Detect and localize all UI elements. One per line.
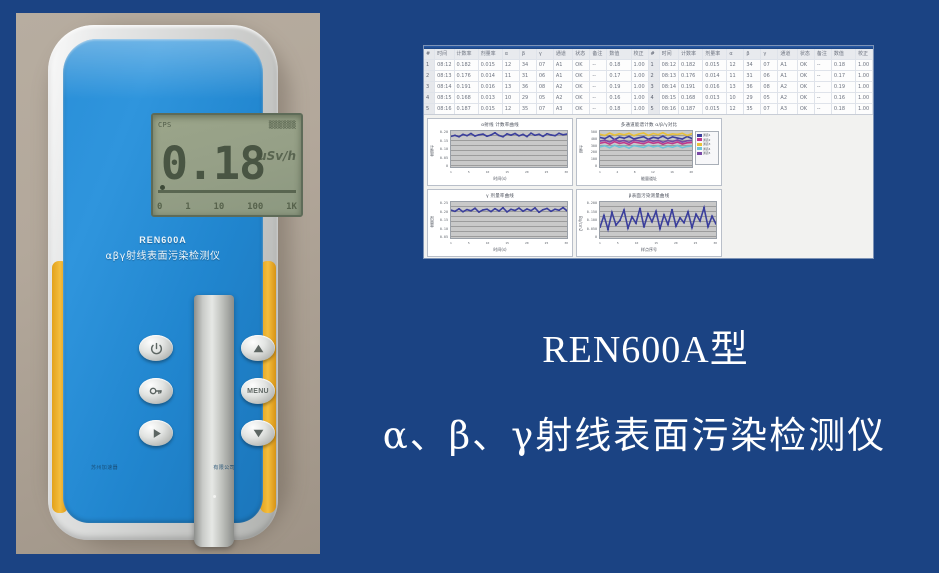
data-table[interactable]: #时间计数率剂量率αβγ通道状态备注数值校正#时间计数率剂量率αβγ通道状态备注… [424, 49, 873, 115]
chart-marker [470, 133, 472, 134]
chart-marker [691, 138, 692, 139]
table-cell: 0.015 [479, 104, 503, 114]
table-cell: 34 [744, 60, 761, 70]
table-cell: 08:14 [435, 82, 454, 92]
chart-marker [628, 142, 630, 143]
chart-alpha-count[interactable]: α射线 计数率曲线计数率0.200.150.100.05015101520253… [427, 118, 573, 186]
x-tick: 15 [505, 170, 509, 174]
table-cell: OK [798, 60, 815, 70]
x-tick: 12 [651, 170, 655, 174]
lcd-unit: uSv/h [258, 149, 296, 163]
table-cell: OK [573, 93, 590, 103]
chart-marker [691, 140, 692, 141]
lcd-tick-10: 10 [213, 202, 224, 212]
chart-marker [671, 209, 673, 210]
down-button[interactable] [241, 420, 275, 446]
y-tick: 300 [584, 144, 597, 148]
chart-marker [672, 143, 674, 144]
table-cell: 36 [744, 82, 761, 92]
x-tick: 4 [616, 170, 618, 174]
chart-line-剂量率 [451, 208, 567, 213]
chart-marker [558, 210, 560, 211]
chart-marker [530, 133, 532, 134]
lcd-scale-ticks: 0 1 10 100 1K [157, 202, 297, 212]
table-cell: OK [798, 104, 815, 114]
play-button[interactable] [139, 420, 173, 446]
table-row[interactable]: 408:150.1680.013102905A2OK--0.161.00408:… [424, 93, 873, 104]
y-tick: 0.25 [435, 201, 448, 205]
legend-label: 通道5 [703, 151, 710, 155]
chart-legend: 通道1通道2通道3通道4通道5 [695, 131, 719, 165]
chart-marker [643, 132, 645, 133]
table-cell: 3 [424, 82, 435, 92]
lcd-tick-1: 1 [185, 202, 190, 212]
table-cell: 13 [727, 82, 744, 92]
table-cell: -- [590, 60, 607, 70]
chart-marker [682, 147, 684, 148]
chart-marker [558, 133, 560, 134]
table-cell: 0.16 [607, 93, 631, 103]
table-header-cell: α [503, 49, 520, 59]
chart-marker [667, 134, 669, 135]
chart-marker [486, 209, 488, 210]
chart-marker [614, 141, 616, 142]
chart-x-axis-label: 时间(s) [428, 247, 572, 253]
device-model-label: REN600A [63, 235, 263, 245]
y-tick: 0.15 [435, 218, 448, 222]
table-cell: -- [590, 82, 607, 92]
chart-marker [703, 207, 705, 208]
table-cell: 13 [503, 82, 520, 92]
power-button[interactable] [139, 335, 173, 361]
table-cell: 0.176 [455, 71, 479, 81]
chart-marker [604, 145, 606, 146]
chart-marker [638, 146, 640, 147]
chart-marker [562, 207, 564, 208]
table-cell: 08 [761, 82, 778, 92]
table-cell: 0.16 [832, 93, 856, 103]
table-header-cell: 状态 [573, 49, 590, 59]
table-cell: 12 [727, 60, 744, 70]
legend-label: 通道4 [703, 147, 710, 151]
table-cell: 35 [744, 104, 761, 114]
chart-marker [615, 224, 617, 225]
chart-marker [546, 208, 548, 209]
table-cell: 31 [520, 71, 537, 81]
legend-item: 通道3 [697, 142, 717, 146]
chart-marker [614, 145, 616, 146]
table-cell: 07 [537, 104, 554, 114]
chevron-down-icon [252, 427, 265, 440]
x-tick: 5 [617, 241, 619, 245]
table-cell: 12 [503, 60, 520, 70]
legend-item: 通道5 [697, 151, 717, 155]
table-cell: A1 [778, 71, 797, 81]
x-tick: 1 [450, 241, 452, 245]
table-cell: 0.016 [703, 82, 727, 92]
y-tick: 0.050 [584, 227, 597, 231]
chart-marker [600, 140, 601, 141]
chart-marker [691, 142, 692, 143]
chart-series-group [451, 202, 567, 238]
chart-marker [451, 209, 452, 210]
chart-marker [648, 145, 650, 146]
chart-x-ticks: 151015202530 [450, 241, 568, 245]
table-header-cell: 计数率 [455, 49, 479, 59]
table-cell: 0.014 [703, 71, 727, 81]
table-cell: OK [573, 71, 590, 81]
table-cell: 06 [537, 71, 554, 81]
chart-marker [679, 217, 681, 218]
table-header-cell: 计数率 [679, 49, 703, 59]
legend-label: 通道3 [703, 142, 710, 146]
y-tick: 0.20 [435, 130, 448, 134]
table-cell: A2 [778, 82, 797, 92]
table-row[interactable]: 308:140.1910.016133608A2OK--0.191.00308:… [424, 82, 873, 93]
chart-marker [672, 141, 674, 142]
chart-marker [454, 211, 456, 212]
table-cell: 0.18 [832, 104, 856, 114]
chart-plot-area: 计数率0.200.150.100.050151015202530时间(s) [428, 129, 572, 185]
chart-series-group [600, 131, 692, 167]
chart-marker [638, 137, 640, 138]
x-tick: 16 [670, 170, 674, 174]
table-header-cell: 剂量率 [479, 49, 503, 59]
y-tick: 0.05 [435, 156, 448, 160]
y-tick: 0.200 [584, 201, 597, 205]
chart-marker [514, 210, 516, 211]
chart-marker [648, 139, 650, 140]
table-cell: 08:14 [660, 82, 679, 92]
chart-marker [490, 134, 492, 135]
chart-marker [623, 138, 625, 139]
chart-marker [707, 226, 709, 227]
chart-marker [609, 143, 611, 144]
chart-marker [657, 145, 659, 146]
table-cell: 0.015 [479, 60, 503, 70]
table-cell: 0.191 [455, 82, 479, 92]
chart-marker [627, 227, 629, 228]
chart-marker [619, 141, 621, 142]
table-cell: 08:15 [435, 93, 454, 103]
panel-highlight [63, 39, 263, 99]
legend-swatch [697, 143, 702, 146]
table-cell: 0.015 [703, 60, 727, 70]
chart-marker [652, 137, 654, 138]
table-cell: OK [573, 82, 590, 92]
chart-marker [672, 147, 674, 148]
key-icon [149, 385, 163, 397]
product-photo: CPS ▒▒▒▒▒▒ 0.18 uSv/h 0 1 10 100 1K RE [16, 13, 320, 554]
table-cell: 1.00 [856, 60, 873, 70]
table-header-cell: γ [537, 49, 554, 59]
chart-marker [451, 136, 452, 137]
chart-marker [498, 135, 500, 136]
table-header-cell: 时间 [660, 49, 679, 59]
y-tick: 0.150 [584, 210, 597, 214]
lcd-status-right: ▒▒▒▒▒▒ [269, 121, 296, 129]
chart-marker [514, 133, 516, 134]
chart-marker [623, 209, 625, 210]
x-tick: 8 [634, 170, 636, 174]
chart-marker [604, 140, 606, 141]
chart-marker [657, 134, 659, 135]
chart-beta-surface[interactable]: β表面污染测量曲线Bq/cm20.2000.1500.1000.05001510… [576, 189, 722, 257]
chart-marker [619, 220, 621, 221]
chart-marker [502, 207, 504, 208]
table-header-cell: 状态 [798, 49, 815, 59]
table-cell: A3 [778, 104, 797, 114]
slide-root: CPS ▒▒▒▒▒▒ 0.18 uSv/h 0 1 10 100 1K RE [0, 0, 939, 573]
table-cell: 0.187 [679, 104, 703, 114]
table-cell: 08:15 [660, 93, 679, 103]
chart-marker [638, 142, 640, 143]
chart-marker [643, 147, 645, 148]
chart-marker [682, 138, 684, 139]
chart-marker [623, 142, 625, 143]
chart-marker [643, 141, 645, 142]
chart-marker [538, 134, 540, 135]
legend-item: 通道4 [697, 147, 717, 151]
y-tick: 0.10 [435, 227, 448, 231]
table-cell: 5 [649, 104, 660, 114]
chart-marker [518, 207, 520, 208]
table-header-cell: γ [761, 49, 778, 59]
table-cell: 1.00 [856, 82, 873, 92]
x-tick: 1 [599, 170, 601, 174]
chart-marker [522, 211, 524, 212]
table-cell: 0.18 [607, 104, 631, 114]
chart-marker [600, 143, 601, 144]
key-button[interactable] [139, 378, 173, 404]
table-row[interactable]: 108:120.1820.015123407A1OK--0.181.00108:… [424, 60, 873, 71]
table-cell: 0.182 [455, 60, 479, 70]
table-cell: 4 [424, 93, 435, 103]
table-cell: 08:16 [660, 104, 679, 114]
chart-marker [462, 211, 464, 212]
chart-marker [506, 211, 508, 212]
panel-footer-text: 苏州加速器 有限公司 [63, 464, 263, 471]
chart-marker [502, 136, 504, 137]
chart-marker [554, 135, 556, 136]
menu-button[interactable]: MENU [241, 378, 275, 404]
chart-marker [542, 136, 544, 137]
lcd-reading: 0.18 [161, 141, 265, 186]
chart-marker [494, 208, 496, 209]
table-cell: 08:13 [660, 71, 679, 81]
chart-y-ticks: 0.2000.1500.1000.0500 [584, 201, 597, 239]
chart-marker [686, 146, 688, 147]
chart-marker [695, 214, 697, 215]
chart-marker [506, 133, 508, 134]
table-header-cell: # [424, 49, 435, 59]
chart-y-ticks: 5004003002001000 [584, 130, 597, 168]
chart-marker [614, 139, 616, 140]
table-cell: 0.015 [703, 104, 727, 114]
lcd-display: CPS ▒▒▒▒▒▒ 0.18 uSv/h 0 1 10 100 1K [151, 113, 303, 217]
x-tick: 25 [545, 170, 549, 174]
table-header-row[interactable]: #时间计数率剂量率αβγ通道状态备注数值校正#时间计数率剂量率αβγ通道状态备注… [424, 49, 873, 60]
device-description-label: αβγ射线表面污染检测仪 [63, 247, 263, 262]
chevron-up-icon [252, 342, 265, 355]
chart-marker [538, 212, 540, 213]
chart-marker [652, 143, 654, 144]
table-cell: 0.18 [832, 60, 856, 70]
lcd-status-left: CPS [158, 121, 172, 129]
x-tick: 10 [486, 241, 490, 245]
y-tick: 0.15 [435, 139, 448, 143]
table-header-cell: 通道 [554, 49, 573, 59]
table-cell: 1.00 [632, 93, 649, 103]
chart-marker [648, 141, 650, 142]
chart-marker [550, 134, 552, 135]
table-cell: 0.014 [479, 71, 503, 81]
chart-marker [623, 134, 625, 135]
x-tick: 1 [450, 170, 452, 174]
chart-marker [604, 138, 606, 139]
x-tick: 20 [525, 170, 529, 174]
y-tick: 0.100 [584, 218, 597, 222]
chart-marker [651, 221, 653, 222]
table-cell: 06 [761, 71, 778, 81]
chart-y-ticks: 0.200.150.100.050 [435, 130, 448, 168]
chart-marker [530, 210, 532, 211]
chart-marker [683, 222, 685, 223]
legend-label: 通道1 [703, 133, 710, 137]
legend-item: 通道1 [697, 133, 717, 137]
chart-marker [652, 133, 654, 134]
chart-marker [691, 227, 693, 228]
chart-marker [526, 136, 528, 137]
table-cell: 1.00 [632, 71, 649, 81]
chart-title: γ 剂量率曲线 [428, 193, 572, 199]
table-row[interactable]: 508:160.1870.015123507A3OK--0.181.00508:… [424, 104, 873, 115]
table-cell: A1 [554, 60, 573, 70]
chart-marker [667, 142, 669, 143]
chart-canvas [450, 201, 568, 239]
chart-title: β表面污染测量曲线 [577, 193, 721, 199]
chart-plot-area: 计数5004003002001000通道1通道2通道3通道4通道51481216… [577, 129, 721, 185]
lcd-bargraph-marker [160, 185, 165, 190]
table-cell: 0.19 [832, 82, 856, 92]
chart-marker [677, 137, 679, 138]
chart-marker [609, 135, 611, 136]
table-cell: A2 [554, 93, 573, 103]
y-tick: 500 [584, 130, 597, 134]
chart-marker [652, 141, 654, 142]
table-cell: 2 [424, 71, 435, 81]
table-cell: 29 [744, 93, 761, 103]
table-header-cell: 备注 [815, 49, 832, 59]
chart-gamma-dose[interactable]: γ 剂量率曲线剂量率0.250.200.150.100.051510152025… [427, 189, 573, 257]
x-tick: 30 [564, 241, 568, 245]
chart-marker [542, 209, 544, 210]
table-cell: 0.013 [703, 93, 727, 103]
table-cell: A1 [778, 60, 797, 70]
table-row[interactable]: 208:130.1760.014113106A1OK--0.171.00208:… [424, 71, 873, 82]
chart-marker [699, 220, 701, 221]
chart-marker [677, 134, 679, 135]
chart-marker [623, 140, 625, 141]
chart-marker [677, 145, 679, 146]
chart-marker [478, 134, 480, 135]
chart-marker [619, 133, 621, 134]
x-tick: 20 [674, 241, 678, 245]
table-header-cell: # [649, 49, 660, 59]
table-cell: A2 [554, 82, 573, 92]
table-header-cell: β [744, 49, 761, 59]
chart-marker [633, 141, 635, 142]
table-cell: OK [798, 93, 815, 103]
table-cell: 3 [649, 82, 660, 92]
table-cell: 1.00 [632, 104, 649, 114]
chart-marker [677, 141, 679, 142]
chart-marker [462, 134, 464, 135]
lcd-bargraph-axis [158, 190, 296, 193]
handle-screw-dot [213, 495, 216, 498]
chart-x-ticks: 148121620 [599, 170, 693, 174]
table-cell: -- [815, 60, 832, 70]
chart-marker [458, 136, 460, 137]
x-tick: 1 [599, 241, 601, 245]
chart-marker [478, 211, 480, 212]
table-cell: -- [815, 82, 832, 92]
chart-marker [604, 142, 606, 143]
chart-marker [643, 136, 645, 137]
chart-marker [482, 133, 484, 134]
chart-marker [643, 226, 645, 227]
chart-multi-channel[interactable]: 多通道能谱计数 α/β/γ对比计数5004003002001000通道1通道2通… [576, 118, 722, 186]
table-cell: 08:16 [435, 104, 454, 114]
table-cell: 0.187 [455, 104, 479, 114]
chart-marker [562, 134, 564, 135]
chart-canvas [599, 201, 717, 239]
chart-marker [662, 144, 664, 145]
chart-x-axis-label: 时间(s) [428, 176, 572, 182]
chart-y-axis-label: Bq/cm2 [578, 216, 583, 231]
table-cell: 11 [727, 71, 744, 81]
chart-marker [522, 134, 524, 135]
product-name-title: α、β、γ射线表面污染检测仪 [330, 405, 939, 459]
charts-container: α射线 计数率曲线计数率0.200.150.100.05015101520253… [424, 115, 873, 259]
table-cell: 34 [520, 60, 537, 70]
chart-x-ticks: 151015202530 [599, 241, 717, 245]
device-front-panel: CPS ▒▒▒▒▒▒ 0.18 uSv/h 0 1 10 100 1K RE [63, 39, 263, 523]
chart-x-ticks: 151015202530 [450, 170, 568, 174]
table-cell: 07 [537, 60, 554, 70]
chart-marker [619, 143, 621, 144]
table-cell: OK [798, 82, 815, 92]
lcd-tick-100: 100 [247, 202, 263, 212]
table-cell: OK [573, 104, 590, 114]
chart-marker [691, 145, 692, 146]
table-cell: 11 [503, 71, 520, 81]
y-tick: 0.05 [435, 235, 448, 239]
chart-marker [458, 208, 460, 209]
chart-marker [655, 211, 657, 212]
chart-marker [672, 133, 674, 134]
legend-swatch [697, 152, 702, 155]
chart-title: α射线 计数率曲线 [428, 122, 572, 128]
table-cell: 31 [744, 71, 761, 81]
y-tick: 0 [435, 164, 448, 168]
table-cell: 0.176 [679, 71, 703, 81]
chart-marker [550, 211, 552, 212]
chart-canvas [599, 130, 693, 168]
lcd-tick-0: 0 [157, 202, 162, 212]
table-cell: 1.00 [856, 71, 873, 81]
up-button[interactable] [241, 335, 275, 361]
